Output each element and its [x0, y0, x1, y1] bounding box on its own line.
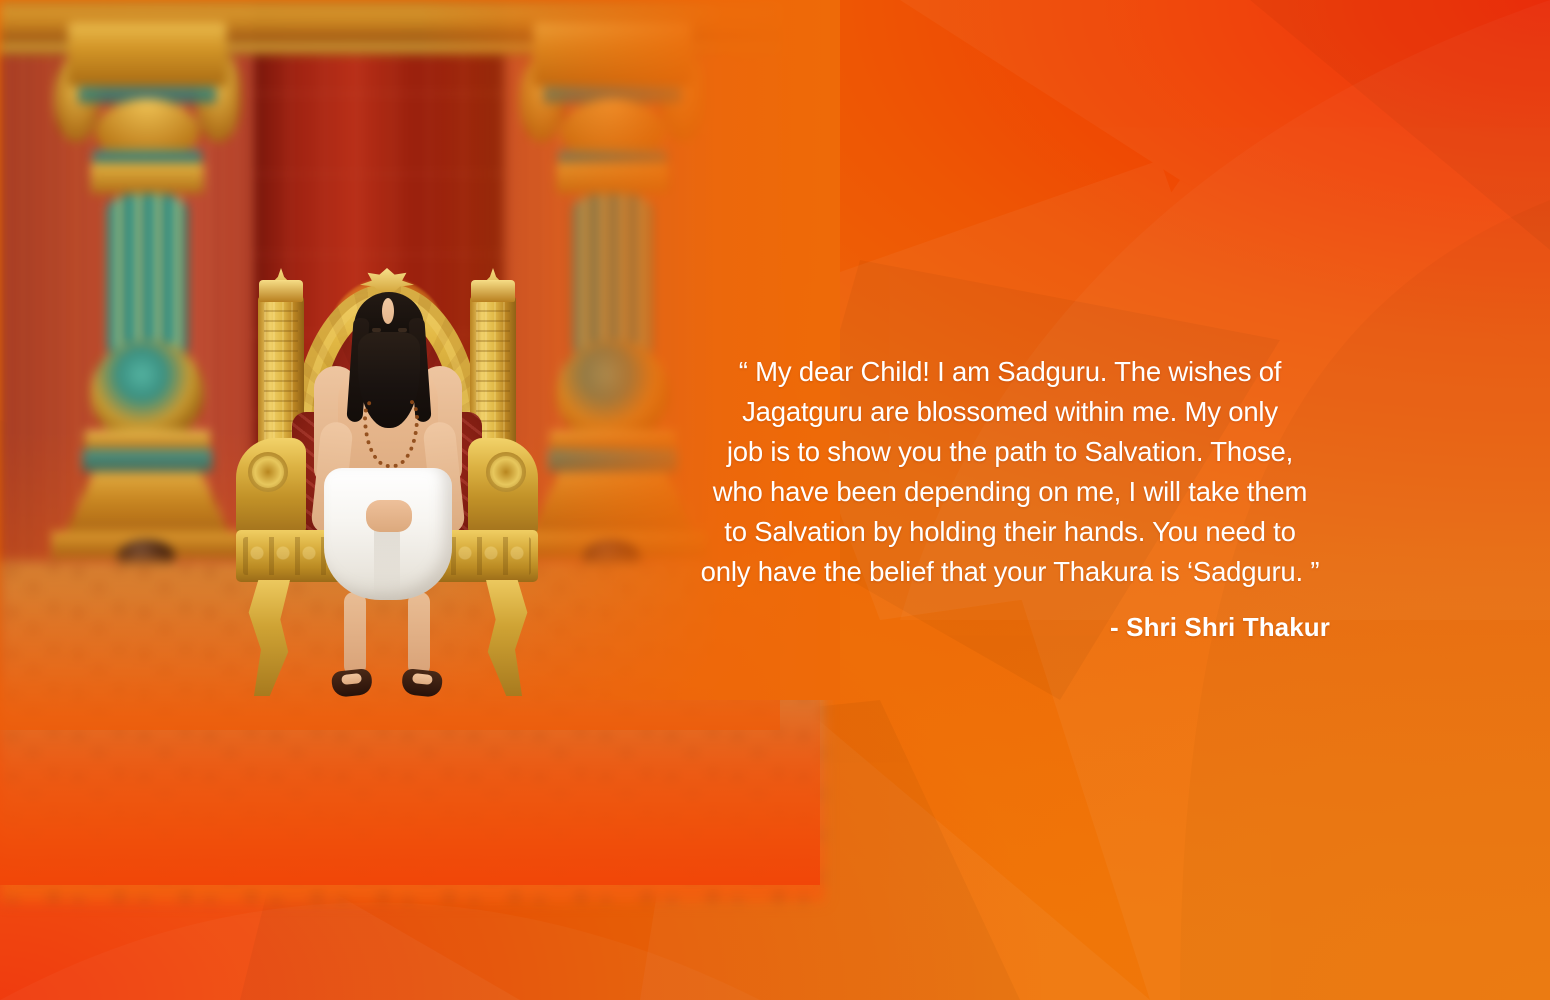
- guru-leg-left: [344, 592, 366, 676]
- guru-eye-right: [398, 328, 407, 332]
- quote-line: only have the belief that your Thakura i…: [690, 552, 1330, 592]
- quote-attribution: - Shri Shri Thakur: [690, 612, 1330, 643]
- guru-eye-left: [372, 328, 381, 332]
- quote-text-block: “ My dear Child! I am Sadguru. The wishe…: [690, 352, 1330, 592]
- sandal-right-icon: [401, 668, 443, 698]
- quote-line: to Salvation by holding their hands. You…: [690, 512, 1330, 552]
- guru-white-dhoti: [324, 468, 452, 600]
- guru-clasped-hands: [366, 500, 412, 532]
- guru-leg-right: [408, 592, 430, 676]
- quote-line: “ My dear Child! I am Sadguru. The wishe…: [690, 352, 1330, 392]
- pillar-bell: [95, 99, 200, 157]
- quote-line: Jagatguru are blossomed within me. My on…: [690, 392, 1330, 432]
- throne-armrest-right: [468, 438, 538, 534]
- throne-armrest-left: [236, 438, 306, 534]
- pillar-capital: [68, 23, 227, 87]
- throne-and-guru: [232, 262, 542, 732]
- sandal-left-icon: [331, 668, 373, 698]
- quote-line: job is to show you the path to Salvation…: [690, 432, 1330, 472]
- pillar-ring-gold: [91, 163, 204, 194]
- poster-canvas: “ My dear Child! I am Sadguru. The wishe…: [0, 0, 1550, 1000]
- pillar-bulb: [91, 340, 204, 439]
- quote-line: who have been depending on me, I will ta…: [690, 472, 1330, 512]
